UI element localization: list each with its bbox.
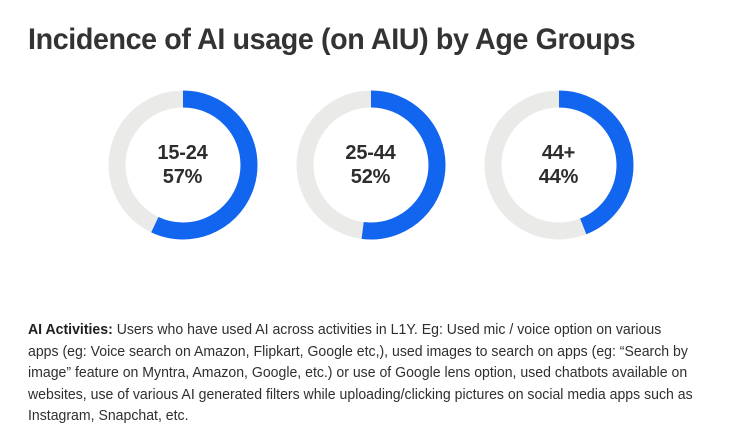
- footnote: AI Activities: Users who have used AI ac…: [28, 320, 694, 428]
- donut-svg-44-plus: [480, 86, 638, 244]
- infographic-page: Incidence of AI usage (on AIU) by Age Gr…: [0, 0, 741, 444]
- donut-chart-group: 15-24 57% 25-44 52% 44+ 44%: [0, 86, 741, 251]
- donut-chart-15-24: 15-24 57%: [104, 86, 262, 244]
- page-title: Incidence of AI usage (on AIU) by Age Gr…: [28, 22, 697, 58]
- donut-chart-25-44: 25-44 52%: [292, 86, 450, 244]
- footnote-body: Users who have used AI across activities…: [28, 322, 693, 424]
- donut-chart-44-plus: 44+ 44%: [480, 86, 638, 244]
- donut-svg-25-44: [292, 86, 450, 244]
- donut-svg-15-24: [104, 86, 262, 244]
- footnote-label: AI Activities:: [28, 322, 113, 338]
